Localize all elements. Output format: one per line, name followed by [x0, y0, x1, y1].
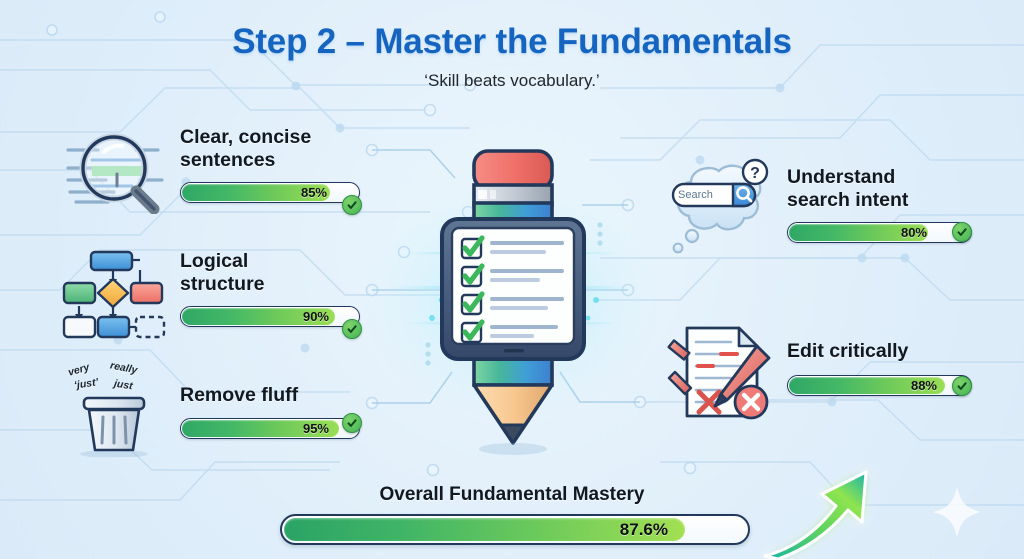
document-pen-x-icon: [665, 322, 775, 422]
magnifier-document-icon: [62, 124, 167, 214]
check-icon: [952, 222, 972, 242]
feature-label: Clear, concise sentences: [180, 126, 362, 171]
overall-section: Overall Fundamental Mastery: [0, 484, 1024, 506]
progress-bar-clear-concise-sentences[interactable]: 85%: [180, 182, 360, 203]
page-subtitle: ‘Skill beats vocabulary.’: [0, 71, 1024, 91]
header: Step 2 – Master the Fundamentals ‘Skill …: [0, 22, 1024, 91]
search-placeholder: Search: [678, 189, 713, 201]
progress-value: 90%: [303, 307, 329, 326]
overall-label: Overall Fundamental Mastery: [0, 484, 1024, 506]
check-icon: [952, 376, 972, 396]
progress-bar-understand-search-intent[interactable]: 80%: [787, 222, 972, 243]
page-title: Step 2 – Master the Fundamentals: [0, 22, 1024, 62]
feature-clear-concise-sentences[interactable]: Clear, concise sentences 85%: [62, 124, 362, 214]
feature-logical-structure[interactable]: Logical structure 90%: [62, 248, 362, 340]
overall-progress-value: 87.6%: [620, 516, 668, 543]
feature-understand-search-intent[interactable]: ? Search Understand search intent 80%: [665, 158, 985, 258]
check-icon: [342, 195, 362, 215]
svg-text:?: ?: [750, 165, 760, 182]
thought-bubble-search-icon: ? Search: [665, 158, 775, 258]
check-icon: [342, 413, 362, 433]
overall-progress-bar[interactable]: 87.6%: [280, 514, 750, 545]
progress-value: 88%: [911, 376, 937, 395]
pencil-tablet-checklist-icon: [430, 143, 595, 458]
infographic-canvas: Step 2 – Master the Fundamentals ‘Skill …: [0, 0, 1024, 559]
trash-can-icon: very really ‘just’ just: [62, 362, 167, 457]
feature-label: Remove fluff: [180, 384, 362, 407]
progress-bar-edit-critically[interactable]: 88%: [787, 375, 972, 396]
feature-label: Understand search intent: [787, 166, 977, 211]
feature-edit-critically[interactable]: Edit critically 88%: [665, 322, 985, 422]
feature-label: Logical structure: [180, 250, 362, 295]
check-icon: [342, 319, 362, 339]
progress-value: 85%: [301, 183, 327, 202]
flowchart-icon: [62, 248, 167, 340]
feature-remove-fluff[interactable]: very really ‘just’ just Remove fluff 95%: [62, 362, 362, 457]
progress-bar-remove-fluff[interactable]: 95%: [180, 418, 360, 439]
feature-label: Edit critically: [787, 340, 977, 363]
progress-value: 80%: [901, 223, 927, 242]
progress-bar-logical-structure[interactable]: 90%: [180, 306, 360, 327]
progress-value: 95%: [303, 419, 329, 438]
